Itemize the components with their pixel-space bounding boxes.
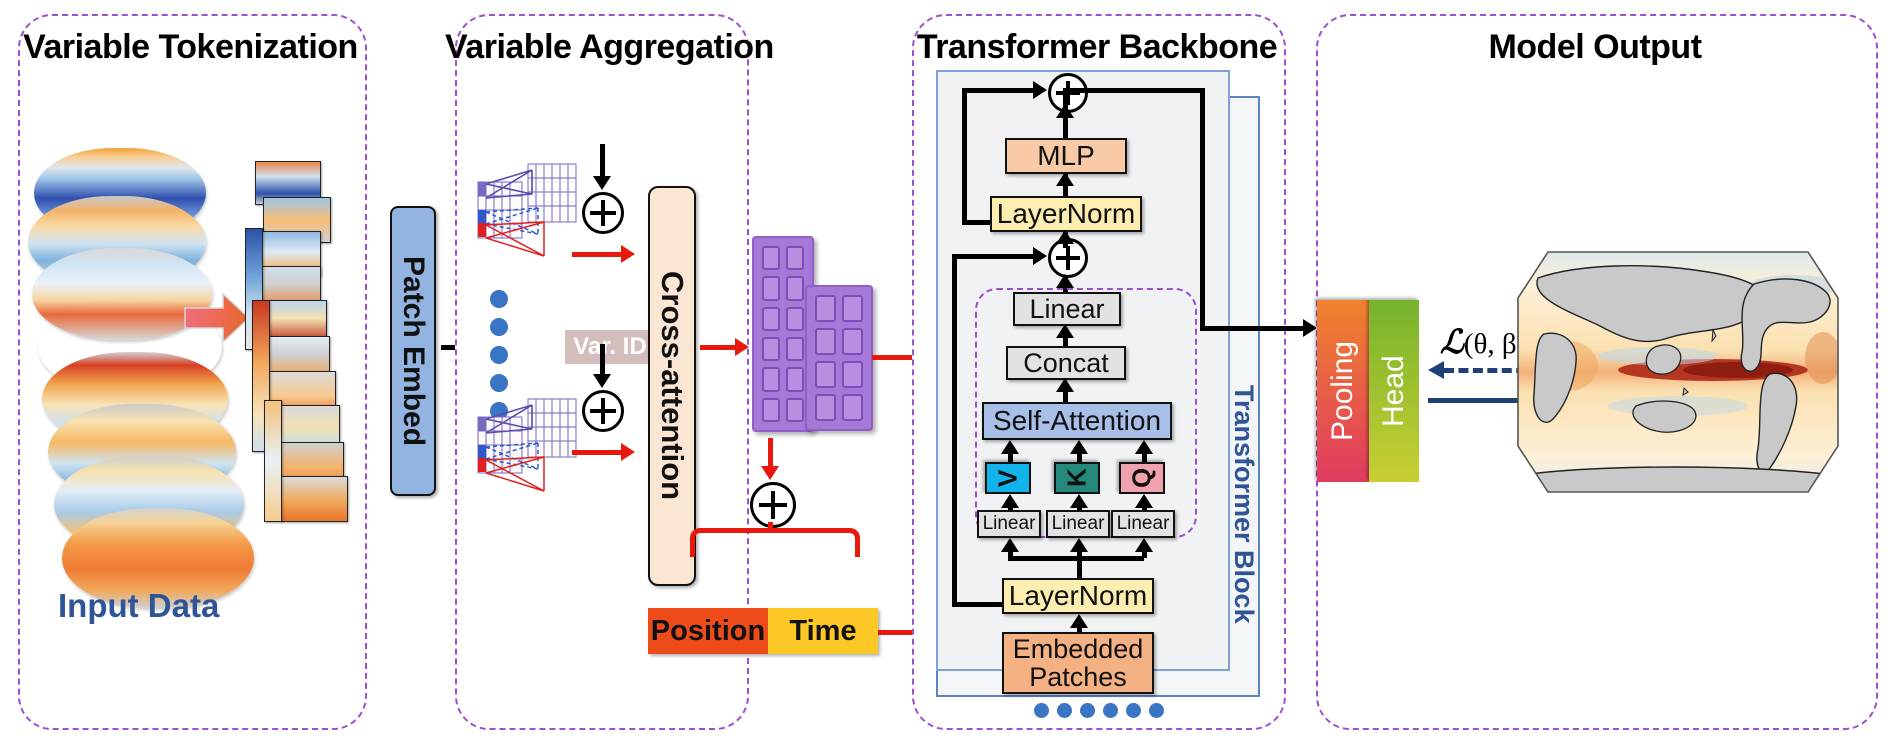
patch-embed-label: Patch Embed <box>396 256 430 446</box>
pooling-box[interactable]: Pooling <box>1317 300 1369 482</box>
arrowhead-varid-top <box>593 176 611 190</box>
brace-stem <box>768 522 773 532</box>
panel-title-variable-aggregation: Variable Aggregation <box>445 28 755 67</box>
plus-node-bottom <box>582 390 624 432</box>
cross-attention-label: Cross-attention <box>654 271 690 500</box>
arrowhead-linq-to-q <box>1135 494 1153 508</box>
arrowhead-selfattn-to-concat <box>1056 378 1074 392</box>
panel-title-variable-tokenization: Variable Tokenization <box>18 28 363 67</box>
var-id-label: Var. ID <box>573 333 646 361</box>
layernorm-bottom-label: LayerNorm <box>1009 580 1147 612</box>
layernorm-bottom-box[interactable]: LayerNorm <box>1002 578 1154 614</box>
value-box[interactable]: V <box>985 462 1031 494</box>
arrowhead-ln-to-mlp <box>1056 172 1074 186</box>
qkv-bus <box>1008 556 1144 561</box>
arrowhead-k-to-selfattn <box>1070 440 1088 454</box>
embedded-patches-line1: Embedded <box>1013 635 1144 663</box>
input-data-label: Input Data <box>58 587 219 625</box>
panel-title-transformer-backbone: Transformer Backbone <box>897 28 1297 67</box>
position-time-brace <box>690 528 860 557</box>
arrowhead-varid-bottom <box>593 374 611 388</box>
linear-out-box[interactable]: Linear <box>1013 292 1121 326</box>
linear-q-label: Linear <box>1117 513 1170 535</box>
panel-title-model-output: Model Output <box>1316 28 1874 67</box>
variable-grid-glyph-top <box>470 160 580 270</box>
pooling-label: Pooling <box>1326 341 1360 441</box>
mlp-label: MLP <box>1037 140 1095 172</box>
output-sst-map <box>1508 238 1848 506</box>
arrowhead-top-to-crossattn <box>621 245 635 263</box>
arrow-backbone-to-pooling <box>1200 326 1306 331</box>
backbone-output-wire <box>1063 88 1205 93</box>
loss-symbol: ℒ <box>1440 325 1464 361</box>
plus-node-embeddings <box>750 482 796 528</box>
transformer-block-label: Transformer Block <box>1228 385 1259 624</box>
arrowhead-patches-to-ln <box>1070 614 1088 628</box>
arrowhead-backbone-to-pooling <box>1303 319 1317 337</box>
arrowhead-bus-v <box>1001 538 1019 552</box>
arrow-varid-top <box>600 144 605 178</box>
embedded-patches-line2: Patches <box>1029 663 1127 691</box>
variable-grid-glyph-bottom <box>470 395 580 505</box>
linear-q-box[interactable]: Linear <box>1111 510 1175 538</box>
backbone-output-down <box>1200 88 1205 330</box>
diagram-canvas: Variable Tokenization <box>0 0 1892 747</box>
key-label: K <box>1062 469 1093 488</box>
layernorm-top-label: LayerNorm <box>997 198 1135 230</box>
tokenize-arrow-icon <box>183 290 251 346</box>
arrowhead-link-to-k <box>1070 494 1088 508</box>
residual-wire-top <box>962 88 1036 93</box>
linear-k-label: Linear <box>1052 513 1105 535</box>
arrowhead-linear-to-add <box>1056 274 1074 288</box>
arrowhead-q-to-selfattn <box>1135 440 1153 454</box>
arrowhead-bus-k <box>1070 538 1088 552</box>
arrow-top-to-crossattn <box>572 252 624 257</box>
cross-attention-box[interactable]: Cross-attention <box>648 186 696 586</box>
arrowhead-tokens-to-plus <box>761 466 779 480</box>
patch-embed-box[interactable]: Patch Embed <box>390 206 436 496</box>
residual-arrowhead-top <box>1033 81 1047 99</box>
residual-arrowhead-bottom <box>1033 247 1047 265</box>
query-box[interactable]: Q <box>1119 462 1165 494</box>
concat-box[interactable]: Concat <box>1006 346 1126 380</box>
self-attention-box[interactable]: Self-Attention <box>982 402 1172 440</box>
ln-bottom-to-bus <box>1077 556 1082 578</box>
arrow-crossattn-to-tokens <box>700 345 738 350</box>
arrowhead-loss-backward <box>1428 361 1444 379</box>
time-label: Time <box>789 615 856 648</box>
arrowhead-linv-to-v <box>1001 494 1019 508</box>
arrowhead-concat-to-linear <box>1056 324 1074 338</box>
embedded-patches-box[interactable]: Embedded Patches <box>1002 632 1154 694</box>
head-box[interactable]: Head <box>1369 300 1419 482</box>
arrowhead-bottom-to-crossattn <box>621 443 635 461</box>
linear-k-box[interactable]: Linear <box>1046 510 1110 538</box>
arrowhead-v-to-selfattn <box>1001 440 1019 454</box>
residual-riser-top <box>962 88 967 224</box>
mlp-box[interactable]: MLP <box>1005 138 1127 174</box>
concat-label: Concat <box>1023 348 1109 379</box>
linear-v-box[interactable]: Linear <box>977 510 1041 538</box>
query-label: Q <box>1127 468 1158 488</box>
var-id-chip[interactable]: Var. ID <box>565 330 655 364</box>
linear-out-label: Linear <box>1029 294 1104 325</box>
self-attention-label: Self-Attention <box>993 405 1161 437</box>
arrow-varid-bottom <box>600 344 605 376</box>
plus-node-top <box>582 192 624 234</box>
arrowhead-add-to-ln <box>1056 230 1074 244</box>
position-label: Position <box>651 615 765 648</box>
key-box[interactable]: K <box>1054 462 1100 494</box>
residual-riser-bottom <box>952 254 957 606</box>
head-label: Head <box>1377 355 1411 427</box>
linear-v-label: Linear <box>983 513 1036 535</box>
layernorm-top-box[interactable]: LayerNorm <box>990 196 1142 232</box>
aggregated-tokens-front <box>805 285 873 431</box>
time-box[interactable]: Time <box>768 608 878 654</box>
residual-wire-bottom <box>952 254 1036 259</box>
arrowhead-crossattn-to-tokens <box>735 338 749 356</box>
arrowhead-bus-q <box>1135 538 1153 552</box>
residual-add-bottom <box>1048 238 1088 278</box>
arrow-bottom-to-crossattn <box>572 450 624 455</box>
arrowhead-mlp-to-add <box>1056 104 1074 118</box>
value-label: V <box>993 469 1024 486</box>
position-box[interactable]: Position <box>648 608 768 654</box>
